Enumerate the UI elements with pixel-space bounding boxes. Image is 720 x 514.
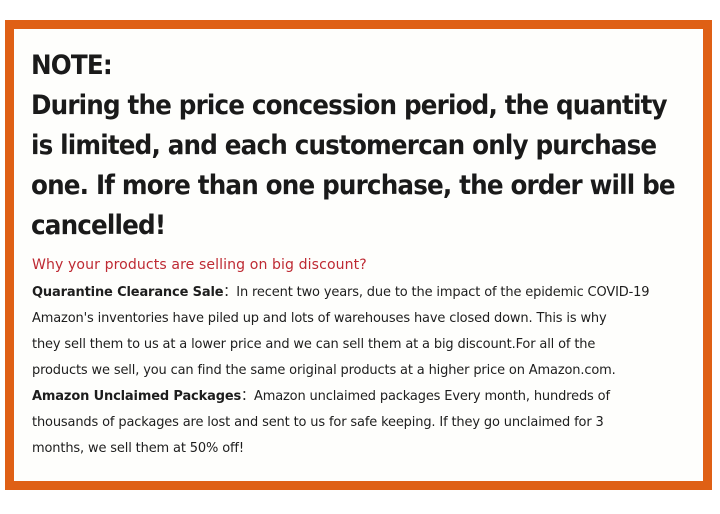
headline-line-4: one. If more than one purchase, the orde…: [31, 166, 649, 206]
quarantine-clearance-line-3: they sell them to us at a lower price an…: [32, 331, 665, 357]
headline-line-3: is limited, and each customercan only pu…: [31, 126, 649, 166]
headline-line-2: During the price concession period, the …: [31, 86, 649, 126]
unclaimed-packages-line-2: thousands of packages are lost and sent …: [32, 409, 665, 435]
headline-line-1: NOTE:: [31, 46, 649, 86]
headline-block: NOTE: During the price concession period…: [31, 46, 695, 246]
unclaimed-packages-line-3: months, we sell them at 50% off!: [32, 435, 665, 461]
unclaimed-packages-lead: Amazon Unclaimed Packages: [32, 388, 241, 404]
quarantine-clearance-lead: Quarantine Clearance Sale: [32, 284, 223, 300]
note-card-content: NOTE: During the price concession period…: [14, 29, 703, 481]
unclaimed-packages-separator: ：: [241, 388, 254, 404]
note-card: NOTE: During the price concession period…: [5, 20, 712, 490]
quarantine-clearance-line-4: products we sell, you can find the same …: [32, 357, 665, 383]
quarantine-clearance-line-2: Amazon's inventories have piled up and l…: [32, 305, 665, 331]
quarantine-clearance-line-1: Quarantine Clearance Sale：In recent two …: [32, 279, 665, 305]
headline-line-5: cancelled!: [31, 206, 649, 246]
body-block: Quarantine Clearance Sale：In recent two …: [32, 279, 695, 461]
quarantine-clearance-separator: ：: [223, 284, 236, 300]
quarantine-clearance-text-1: In recent two years, due to the impact o…: [236, 284, 649, 300]
unclaimed-packages-text-1: Amazon unclaimed packages Every month, h…: [254, 388, 610, 404]
discount-question-heading: Why your products are selling on big dis…: [32, 257, 675, 273]
unclaimed-packages-line-1: Amazon Unclaimed Packages：Amazon unclaim…: [32, 383, 665, 409]
